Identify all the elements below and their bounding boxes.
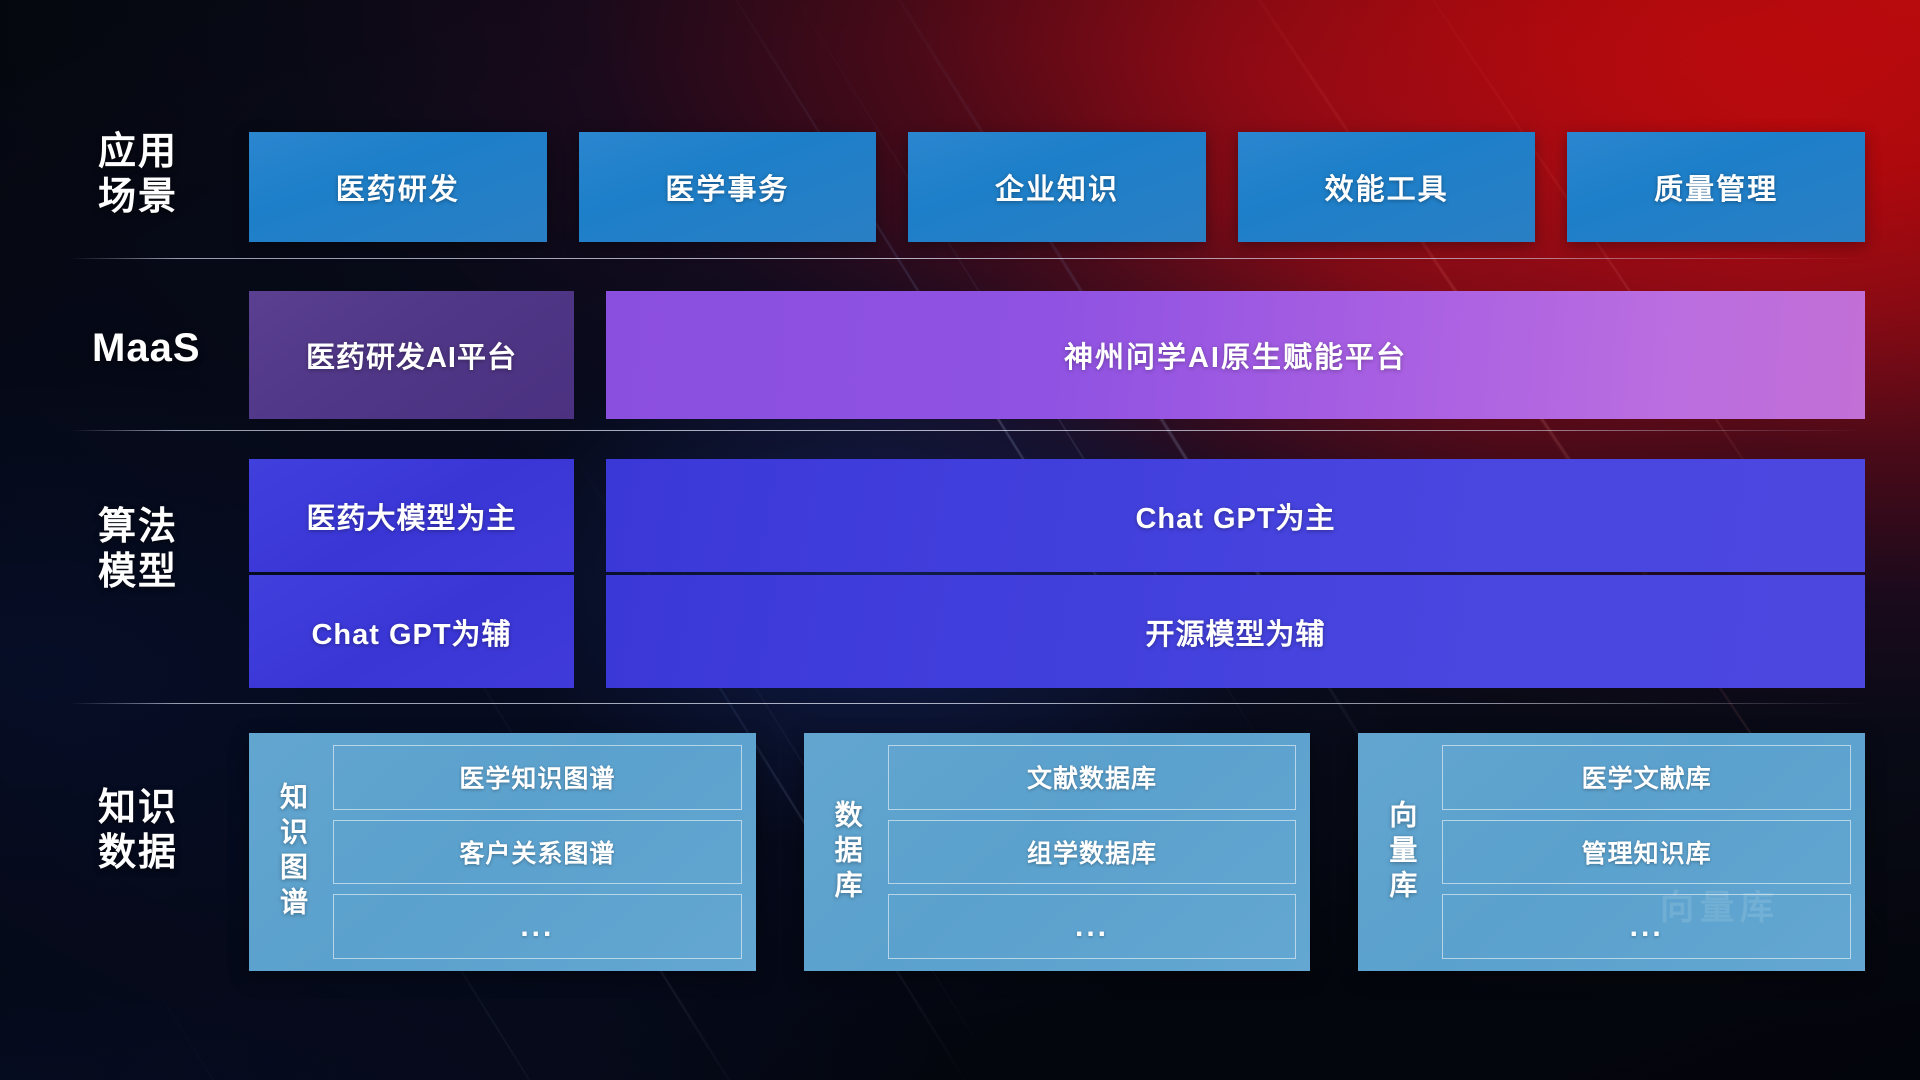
divider-maas-algorithm xyxy=(70,430,1865,431)
knowledge-card-title: 知识图谱 xyxy=(261,745,323,959)
app-box-medical-affairs[interactable]: 医学事务 xyxy=(579,132,877,242)
algo-box-chatgpt-primary[interactable]: Chat GPT为主 xyxy=(606,459,1865,572)
row-label-knowledge: 知识 数据 xyxy=(98,786,178,876)
knowledge-card-title: 向量库 xyxy=(1370,745,1432,959)
application-scenario-row: 医药研发 医学事务 企业知识 效能工具 质量管理 xyxy=(249,132,1865,242)
algo-box-chatgpt-secondary[interactable]: Chat GPT为辅 xyxy=(249,575,574,688)
app-box-quality-management[interactable]: 质量管理 xyxy=(1567,132,1865,242)
row-label-maas: MaaS xyxy=(92,325,201,372)
app-box-enterprise-knowledge[interactable]: 企业知识 xyxy=(908,132,1206,242)
knowledge-card-title: 数据库 xyxy=(816,745,878,959)
knowledge-item-medical-literature[interactable]: 医学文献库 xyxy=(1442,745,1851,810)
algorithm-model-section: 医药大模型为主 Chat GPT为主 Chat GPT为辅 开源模型为辅 xyxy=(249,459,1865,688)
maas-row: 医药研发AI平台 神州问学AI原生赋能平台 xyxy=(249,291,1865,419)
knowledge-item-management-kb[interactable]: 管理知识库 xyxy=(1442,820,1851,885)
knowledge-item-more[interactable]: ... xyxy=(888,894,1297,959)
knowledge-item-more[interactable]: ... xyxy=(333,894,742,959)
app-box-efficiency-tools[interactable]: 效能工具 xyxy=(1238,132,1536,242)
divider-algorithm-knowledge xyxy=(70,703,1865,704)
knowledge-card-items: 文献数据库 组学数据库 ... xyxy=(878,745,1297,959)
knowledge-data-row: 知识图谱 医学知识图谱 客户关系图谱 ... 数据库 文献数据库 组学数据库 .… xyxy=(249,733,1865,971)
algo-box-pharma-llm-primary[interactable]: 医药大模型为主 xyxy=(249,459,574,572)
row-label-application: 应用 场景 xyxy=(98,130,178,220)
knowledge-card-vector[interactable]: 向量库 医学文献库 管理知识库 ... xyxy=(1358,733,1865,971)
architecture-diagram: 应用 场景 MaaS 算法 模型 知识 数据 医药研发 医学事务 企业知识 效能… xyxy=(0,0,1920,1080)
knowledge-item-omics-db[interactable]: 组学数据库 xyxy=(888,820,1297,885)
algorithm-row-primary: 医药大模型为主 Chat GPT为主 xyxy=(249,459,1865,572)
knowledge-card-graph[interactable]: 知识图谱 医学知识图谱 客户关系图谱 ... xyxy=(249,733,756,971)
divider-application-maas xyxy=(70,258,1865,259)
maas-box-pharma-ai-platform[interactable]: 医药研发AI平台 xyxy=(249,291,574,419)
knowledge-item-medical-graph[interactable]: 医学知识图谱 xyxy=(333,745,742,810)
algorithm-row-secondary: Chat GPT为辅 开源模型为辅 xyxy=(249,575,1865,688)
knowledge-item-literature-db[interactable]: 文献数据库 xyxy=(888,745,1297,810)
algo-box-opensource-secondary[interactable]: 开源模型为辅 xyxy=(606,575,1865,688)
knowledge-card-items: 医学文献库 管理知识库 ... xyxy=(1432,745,1851,959)
knowledge-card-items: 医学知识图谱 客户关系图谱 ... xyxy=(323,745,742,959)
maas-box-shenzhou-platform[interactable]: 神州问学AI原生赋能平台 xyxy=(606,291,1865,419)
knowledge-card-database[interactable]: 数据库 文献数据库 组学数据库 ... xyxy=(804,733,1311,971)
knowledge-item-crm-graph[interactable]: 客户关系图谱 xyxy=(333,820,742,885)
row-label-algorithm: 算法 模型 xyxy=(98,505,178,595)
app-box-medicine-rd[interactable]: 医药研发 xyxy=(249,132,547,242)
knowledge-item-more[interactable]: ... xyxy=(1442,894,1851,959)
